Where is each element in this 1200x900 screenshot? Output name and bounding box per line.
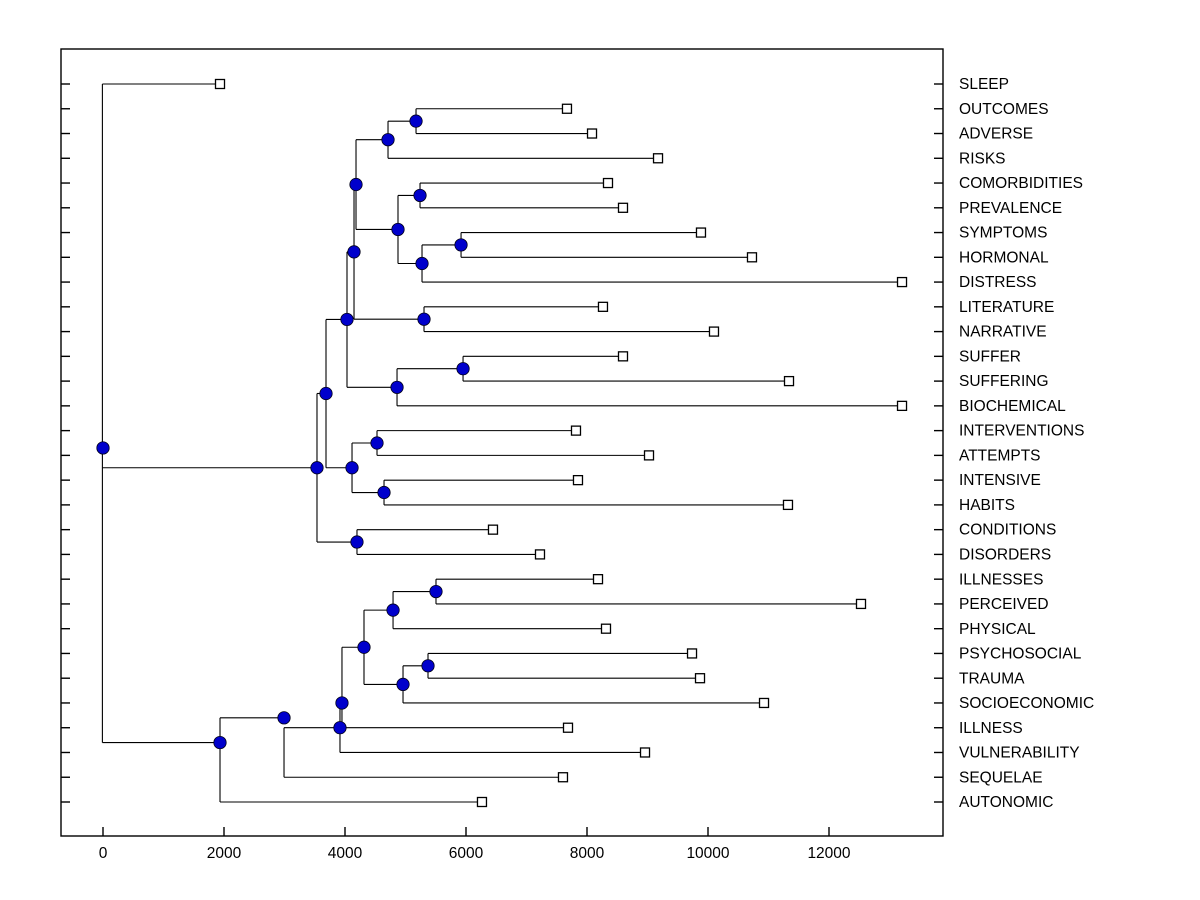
leaf-marker <box>601 624 610 633</box>
merge-node <box>371 437 383 449</box>
merge-node <box>422 660 434 672</box>
leaf-label: BIOCHEMICAL <box>959 398 1066 415</box>
leaf-label: SOCIOECONOMIC <box>959 695 1094 712</box>
leaf-marker <box>857 599 866 608</box>
merge-node <box>387 604 399 616</box>
merge-node <box>311 462 323 474</box>
merge-node <box>334 722 346 734</box>
leaf-marker <box>618 203 627 212</box>
merge-node <box>391 381 403 393</box>
leaf-label: SLEEP <box>959 76 1009 93</box>
leaf-label: ILLNESSES <box>959 571 1043 588</box>
merge-node <box>358 641 370 653</box>
dendrogram-figure: 020004000600080001000012000 SLEEPOUTCOME… <box>0 0 1200 900</box>
leaf-label: INTERVENTIONS <box>959 423 1084 440</box>
leaf-marker <box>594 575 603 584</box>
x-tick-label: 10000 <box>686 845 729 862</box>
leaf-marker <box>654 154 663 163</box>
merge-node <box>457 363 469 375</box>
leaf-label: SYMPTOMS <box>959 225 1047 242</box>
merge-node <box>336 697 348 709</box>
leaf-marker <box>696 674 705 683</box>
leaf-label: SUFFER <box>959 348 1021 365</box>
leaf-marker <box>760 698 769 707</box>
leaf-label: LITERATURE <box>959 299 1054 316</box>
leaf-label: PERCEIVED <box>959 596 1049 613</box>
leaf-label: COMORBIDITIES <box>959 175 1083 192</box>
leaf-label: RISKS <box>959 150 1006 167</box>
leaf-label: NARRATIVE <box>959 324 1047 341</box>
dendrogram-canvas: 020004000600080001000012000 SLEEPOUTCOME… <box>0 0 1200 900</box>
leaf-label: VULNERABILITY <box>959 745 1080 762</box>
merge-node <box>214 736 226 748</box>
x-axis-tick-labels: 020004000600080001000012000 <box>99 845 851 862</box>
merge-node <box>392 223 404 235</box>
x-tick-label: 2000 <box>207 845 242 862</box>
leaf-marker <box>562 104 571 113</box>
leaf-marker <box>618 352 627 361</box>
x-tick-label: 12000 <box>807 845 850 862</box>
leaf-label: TRAUMA <box>959 670 1025 687</box>
leaf-label: ATTEMPTS <box>959 447 1041 464</box>
leaf-label: SUFFERING <box>959 373 1049 390</box>
leaf-marker <box>488 525 497 534</box>
leaf-label: AUTONOMIC <box>959 794 1053 811</box>
merge-node <box>341 313 353 325</box>
leaf-marker <box>535 550 544 559</box>
merge-node <box>97 442 109 454</box>
leaf-marker <box>645 451 654 460</box>
plot-border <box>61 49 943 836</box>
merge-node <box>455 239 467 251</box>
y-axis-ticks <box>61 84 943 802</box>
leaf-label: OUTCOMES <box>959 101 1049 118</box>
leaf-label: ADVERSE <box>959 126 1033 143</box>
merge-node <box>378 486 390 498</box>
leaf-markers <box>216 80 907 807</box>
merge-node <box>278 712 290 724</box>
x-tick-label: 6000 <box>449 845 484 862</box>
x-tick-label: 0 <box>99 845 108 862</box>
merge-node <box>382 134 394 146</box>
merge-node <box>351 536 363 548</box>
x-tick-label: 4000 <box>328 845 363 862</box>
leaf-marker <box>216 80 225 89</box>
merge-nodes <box>97 115 469 749</box>
leaf-label: PREVALENCE <box>959 200 1062 217</box>
x-axis-ticks <box>103 827 829 836</box>
merge-node <box>320 387 332 399</box>
leaf-label: PSYCHOSOCIAL <box>959 646 1082 663</box>
merge-node <box>346 462 358 474</box>
merge-node <box>410 115 422 127</box>
leaf-marker <box>641 748 650 757</box>
leaf-marker <box>709 327 718 336</box>
merge-node <box>350 178 362 190</box>
leaf-label: CONDITIONS <box>959 522 1056 539</box>
leaf-label: DISTRESS <box>959 274 1037 291</box>
leaf-marker <box>588 129 597 138</box>
leaf-label: PHYSICAL <box>959 621 1036 638</box>
leaf-marker <box>564 723 573 732</box>
leaf-label: ILLNESS <box>959 720 1023 737</box>
merge-node <box>348 246 360 258</box>
leaf-marker <box>783 500 792 509</box>
leaf-marker <box>477 798 486 807</box>
leaf-label: HORMONAL <box>959 249 1049 266</box>
merge-node <box>418 313 430 325</box>
leaf-marker <box>603 179 612 188</box>
leaf-marker <box>898 401 907 410</box>
merge-node <box>416 257 428 269</box>
leaf-marker <box>785 377 794 386</box>
merge-node <box>414 189 426 201</box>
leaf-label: HABITS <box>959 497 1015 514</box>
leaf-marker <box>598 302 607 311</box>
plot-frame <box>61 49 943 836</box>
leaf-labels: SLEEPOUTCOMESADVERSERISKSCOMORBIDITIESPR… <box>959 76 1094 811</box>
leaf-marker <box>558 773 567 782</box>
merge-node <box>397 678 409 690</box>
leaf-marker <box>696 228 705 237</box>
dendrogram-links <box>102 84 902 802</box>
leaf-marker <box>688 649 697 658</box>
leaf-marker <box>571 426 580 435</box>
leaf-label: INTENSIVE <box>959 472 1041 489</box>
leaf-marker <box>898 278 907 287</box>
merge-node <box>430 585 442 597</box>
leaf-label: SEQUELAE <box>959 769 1043 786</box>
leaf-label: DISORDERS <box>959 547 1051 564</box>
x-tick-label: 8000 <box>570 845 605 862</box>
leaf-marker <box>573 476 582 485</box>
leaf-marker <box>747 253 756 262</box>
